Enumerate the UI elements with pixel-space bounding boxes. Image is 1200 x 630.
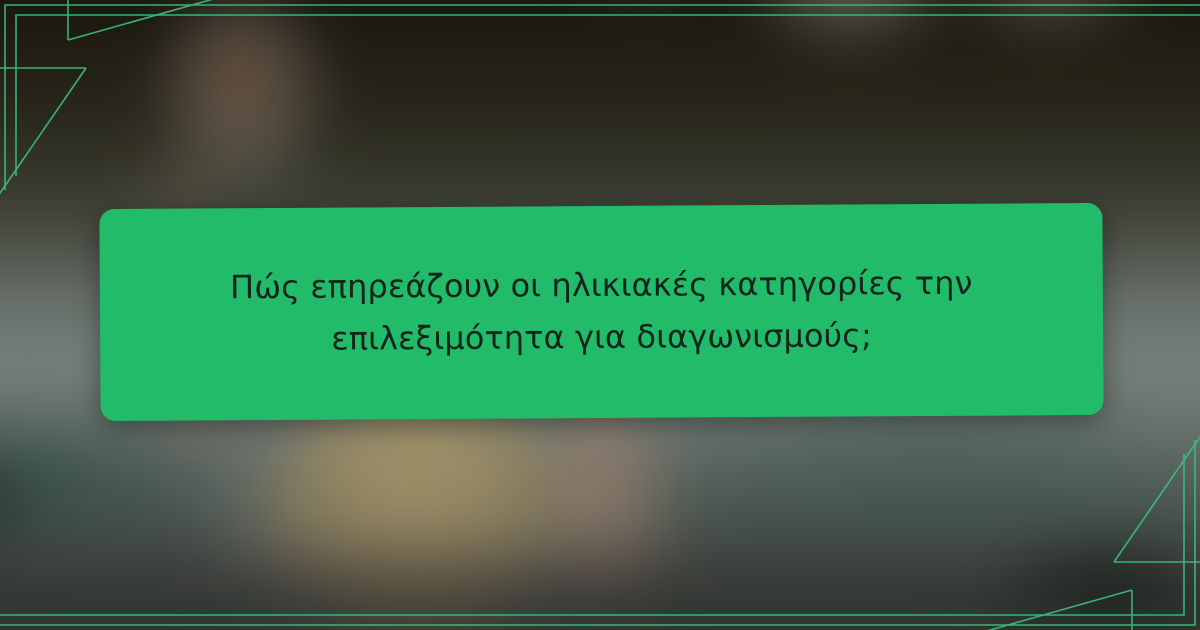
question-card: Πώς επηρεάζουν οι ηλικιακές κατηγορίες τ… bbox=[99, 203, 1103, 421]
social-card-canvas: Πώς επηρεάζουν οι ηλικιακές κατηγορίες τ… bbox=[0, 0, 1200, 630]
question-text: Πώς επηρεάζουν οι ηλικιακές κατηγορίες τ… bbox=[191, 258, 1012, 367]
